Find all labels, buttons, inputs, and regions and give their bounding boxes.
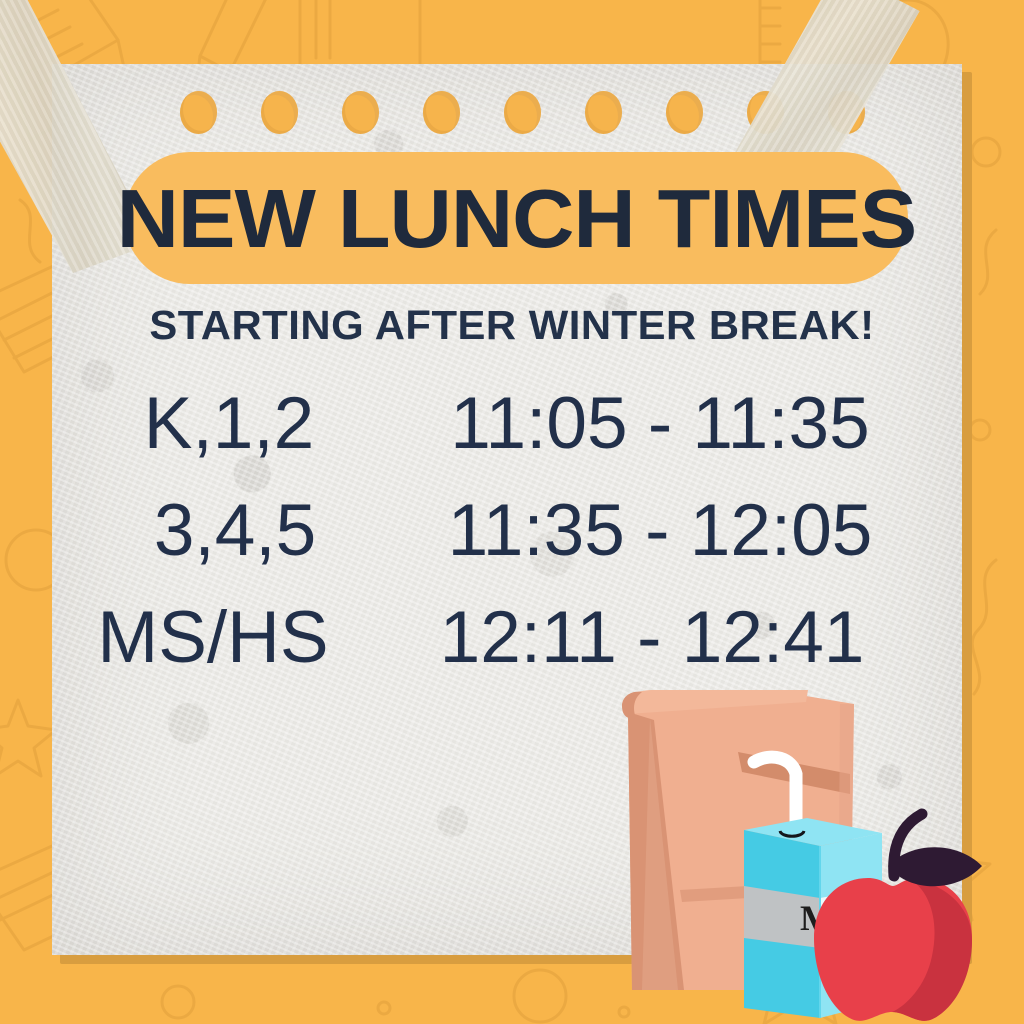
grade-label: K,1,2 [84,382,374,465]
page-title: NEW LUNCH TIMES [116,177,916,260]
time-value: 11:35 - 12:05 [380,489,940,572]
punch-hole [666,91,703,134]
grade-label: 3,4,5 [90,489,380,572]
table-row: MS/HS 12:11 - 12:41 [90,596,940,679]
punch-hole [342,91,379,134]
subtitle: STARTING AFTER WINTER BREAK! [0,302,1024,349]
title-banner: NEW LUNCH TIMES [124,152,908,284]
time-value: 11:05 - 11:35 [380,382,940,465]
poster-canvas: NEW LUNCH TIMES STARTING AFTER WINTER BR… [0,0,1024,1024]
time-value: 12:11 - 12:41 [372,596,932,679]
punch-hole [585,91,622,134]
punch-hole [423,91,460,134]
lunch-schedule-table: K,1,2 11:05 - 11:35 3,4,5 11:35 - 12:05 … [90,382,940,703]
lunch-illustration: MILK [592,690,1024,1024]
punch-hole [504,91,541,134]
table-row: K,1,2 11:05 - 11:35 [90,382,940,465]
grade-label: MS/HS [68,596,358,679]
punch-hole [180,91,217,134]
punch-hole [261,91,298,134]
table-row: 3,4,5 11:35 - 12:05 [90,489,940,572]
